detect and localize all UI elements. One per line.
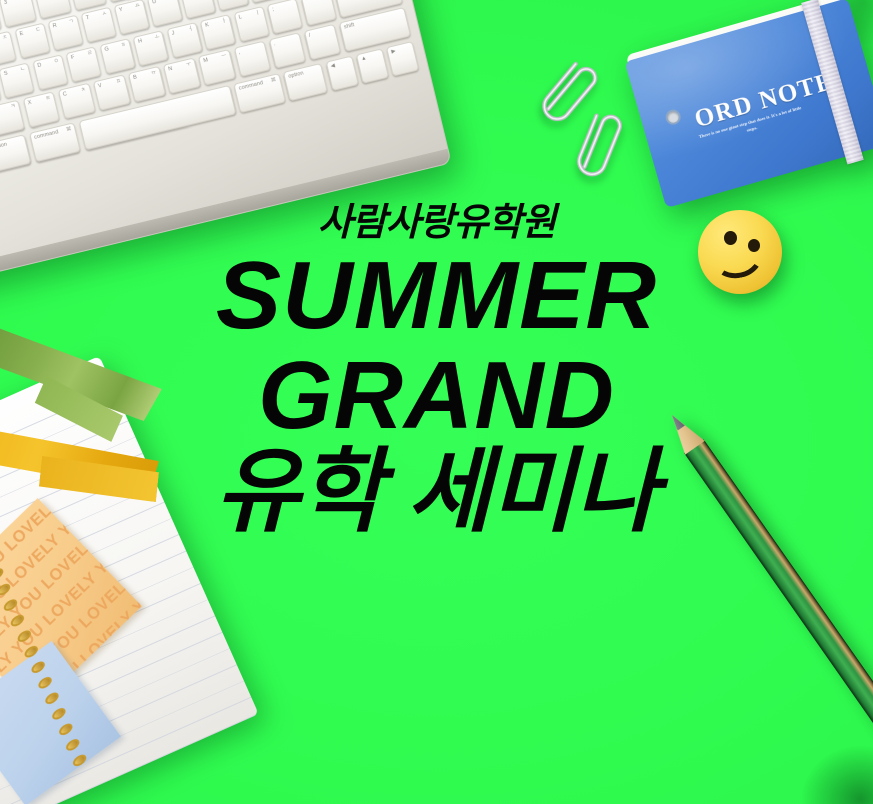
key-label-korean: ㅣ [254,9,261,16]
key-label: 3 [3,0,8,6]
keyboard-key[interactable]: Yㅛ [114,0,150,35]
keyboard-key[interactable]: ▲ [356,48,389,83]
key-label: ◀ [330,62,336,69]
key-label: M [203,57,209,64]
keyboard-key[interactable]: command⌘ [29,122,81,162]
spiral-coil [2,597,19,613]
keyboard-key[interactable]: Rㄱ [48,15,84,51]
keyboard-key[interactable]: Eㄷ [15,23,51,59]
key-label-korean: ㅓ [187,25,194,32]
key-label: option [0,141,8,151]
key-label-korean: ㄱ [68,19,75,26]
keyboard-key-rows: escF1F2F3F4F5F6F7F8F9F10F11F12~123456789… [0,0,419,186]
key-label-korean: ㅊ [80,87,87,94]
keyboard-key[interactable]: Hㅗ [133,30,169,66]
key-label: ' [305,0,308,4]
key-label: command [33,129,59,141]
key-label: B [133,74,138,81]
spiral-coil [71,752,88,768]
key-label: E [19,31,24,38]
key-label-korean: ㅏ [221,17,228,24]
key-label-korean: ㅜ [186,61,193,68]
keyboard-key[interactable]: Nㅜ [163,57,201,94]
keyboard-key[interactable]: ' [301,0,337,26]
key-label-korean: ⌘ [270,76,277,83]
key-label: R [52,23,57,30]
spiral-coil [16,628,33,644]
headline-line-1: SUMMER [0,250,873,342]
key-label: ▶ [391,48,397,55]
key-label: ▲ [360,55,367,62]
keyboard-key[interactable]: . [269,32,307,69]
keyboard-key[interactable]: Dㅇ [32,54,68,90]
keyboard-key[interactable]: Zㅋ [0,100,25,137]
spiral-coil [9,613,26,629]
key-label: K [205,22,210,29]
keyboard-key[interactable]: option [0,134,32,172]
key-label: V [98,83,103,90]
poster-canvas: escF1F2F3F4F5F6F7F8F9F10F11F12~123456789… [0,0,873,804]
key-label: shift [343,22,355,31]
spiral-coil [23,644,40,660]
headline-line-3: 유학 세미나 [0,448,873,536]
key-label-korean: ㅈ [2,34,9,41]
keyboard-key[interactable]: Gㅎ [99,38,135,74]
keyboard-key[interactable]: Tㅅ [81,7,117,43]
key-label-korean: ⌘ [65,126,72,133]
key-label: J [171,30,175,37]
keyboard-key[interactable]: , [233,41,271,78]
key-label-korean: ㅛ [134,3,141,10]
spiral-coil [36,675,53,691]
keyboard-key[interactable]: 4 [34,0,72,19]
keyboard-key[interactable]: Fㄹ [66,46,102,82]
key-label: option [288,70,305,80]
key-label: ; [272,6,275,13]
key-label: G [104,46,110,53]
key-label: command [238,80,264,92]
key-label: L [238,14,243,21]
keyboard-key[interactable]: Cㅊ [58,83,96,120]
notebook-grommet [664,108,683,127]
spiral-coil [64,737,81,753]
key-label-korean: ㅕ [168,0,175,2]
key-label: T [85,15,90,22]
key-label-korean: ㅌ [45,95,52,102]
key-label-korean: ㄷ [35,27,42,34]
key-label-korean: ㅍ [115,78,122,85]
key-label: H [137,38,142,45]
key-label: C [62,91,67,98]
keyboard-key[interactable]: option [283,62,328,100]
key-label: / [308,33,311,40]
spiral-coil [0,582,12,598]
headline-block: 사람사랑유학원 SUMMER GRAND 유학 세미나 [0,204,873,537]
keyboard-key[interactable]: Bㅠ [128,66,166,103]
key-label-korean: ㅋ [10,103,17,110]
key-label-korean: ㅎ [120,42,127,49]
key-label-korean: ㄴ [20,66,27,73]
keyboard-key[interactable]: Sㄴ [0,62,35,98]
keyboard-key[interactable]: Kㅏ [200,14,236,50]
spiral-coil [50,706,67,722]
keyboard-key[interactable]: Xㅌ [23,91,61,128]
keyboard-key[interactable]: Wㅈ [0,31,17,67]
keyboard-key[interactable]: ◀ [325,55,358,90]
key-label-korean: ㅅ [101,11,108,18]
key-label: S [3,70,8,77]
spiral-coil [57,721,74,737]
key-label-korean: ㅗ [154,33,161,40]
key-label: Y [118,7,123,14]
keyboard-key[interactable]: Jㅓ [166,22,202,58]
headline-line-2: GRAND [0,350,873,442]
key-label: N [168,66,173,73]
key-label: F [70,54,75,61]
keyboard-key[interactable]: / [304,24,342,61]
key-label: . [273,41,276,48]
keyboard-key[interactable]: ▶ [386,41,419,76]
keyboard-key[interactable]: Lㅣ [234,5,270,41]
key-label: , [238,50,241,57]
keyboard-key[interactable]: command⌘ [234,73,286,113]
keyboard-key[interactable]: 3 [0,0,36,27]
key-label: U [152,0,157,6]
key-label-korean: ㅇ [53,58,60,65]
key-label-korean: ㅡ [221,53,228,60]
keyboard-key[interactable]: Mㅡ [198,49,236,86]
keyboard-key[interactable]: Uㅕ [147,0,183,27]
spiral-coil [29,659,46,675]
key-label-korean: ㄹ [87,50,94,57]
key-label-korean: ㅠ [151,70,158,77]
keyboard-key[interactable]: Vㅍ [93,74,131,111]
keyboard-key[interactable]: ; [267,0,303,34]
brand-name: 사람사랑유학원 [0,204,873,242]
key-label: D [37,62,42,69]
keyboard-key[interactable]: Iㅑ [180,0,216,19]
key-label: X [27,100,32,107]
spiral-coil [43,690,60,706]
corner-shadow-bottom-right [613,574,873,804]
